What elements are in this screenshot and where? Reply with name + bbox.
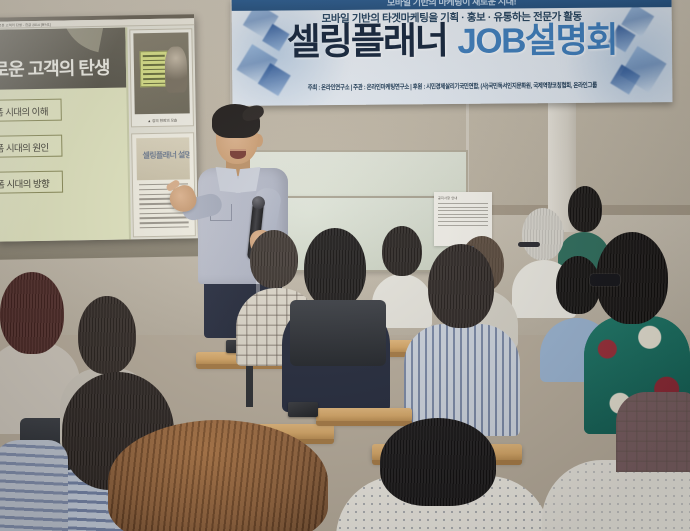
attendee-dark-cap <box>336 418 552 531</box>
mobile-phone[interactable] <box>288 402 318 417</box>
event-banner: 모바일 기반의 마케팅이 새로운 시대! 모바일 기반의 타겟마케팅을 기획 ·… <box>232 0 673 106</box>
attendee-right-sleeve <box>616 392 690 472</box>
banner-title-job: JOB설명회 <box>457 21 617 61</box>
chair-back <box>290 300 386 366</box>
slide-bullets: 플랫폼 시대의 이해 플랫폼 시대의 원인 플랫폼 시대의 방향 <box>0 87 128 193</box>
slide-title-band: 새로운 고객의 탄생 <box>0 27 126 89</box>
banner-title-korean: 셀링플래너 <box>287 20 448 62</box>
attendee-striped-shirt <box>404 244 522 434</box>
projected-application: 새로운 고객의 탄생 - 한글 2014 [문서1] 새로운 고객의 탄생 플랫… <box>0 18 198 241</box>
banner-title: 셀링플래너 JOB설명회 <box>232 20 672 61</box>
presentation-slide: 새로운 고객의 탄생 플랫폼 시대의 이해 플랫폼 시대의 원인 플랫폼 시대의… <box>0 27 131 241</box>
attendee-left-foreground <box>0 440 70 531</box>
presenter-mouth <box>230 149 246 159</box>
slide-title: 새로운 고객의 탄생 <box>0 54 110 82</box>
projection-screen: 오후 3:21 새로운 고객의 탄생 - 한글 2014 [문서1] 새로운 고… <box>0 14 198 241</box>
slide-bullet: 플랫폼 시대의 방향 <box>0 171 63 194</box>
sunglasses <box>590 274 620 286</box>
presenter-hair <box>212 104 260 138</box>
wall-notice-title: 공지사항 안내 <box>438 196 488 200</box>
slide-bullet: 플랫폼 시대의 원인 <box>0 135 62 158</box>
attendee-auburn-hair <box>108 420 328 531</box>
desk-leg <box>246 365 253 407</box>
slide-bullet: 플랫폼 시대의 이해 <box>0 99 62 122</box>
seminar-photo: 공지사항 안내 모바일 기반의 마케팅이 새로운 시대! 모바일 기반의 타겟마… <box>0 0 690 531</box>
